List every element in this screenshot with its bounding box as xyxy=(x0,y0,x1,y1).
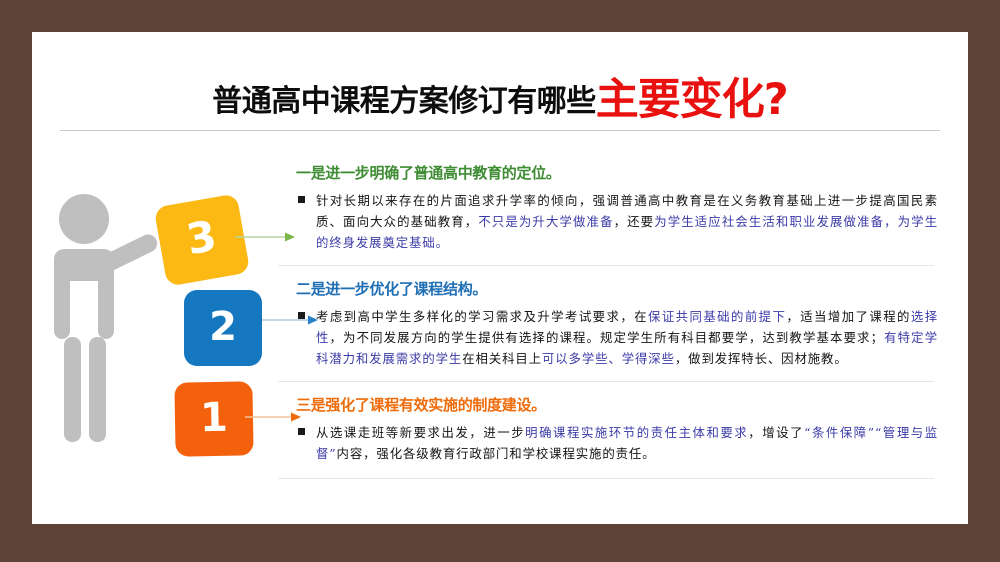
section-1-paragraph: 针对长期以来存在的片面追求升学率的倾向，强调普通高中教育是在义务教育基础上进一步… xyxy=(316,190,938,253)
bullet-square-icon xyxy=(298,428,305,435)
section-1: 一是进一步明确了普通高中教育的定位。 针对长期以来存在的片面追求升学率的倾向，强… xyxy=(254,162,944,253)
section-3: 三是强化了课程有效实施的制度建设。 从选课走班等新要求出发，进一步明确课程实施环… xyxy=(254,394,944,464)
section-2-heading: 二是进一步优化了课程结构。 xyxy=(254,278,944,299)
title-main-text: 普通高中课程方案修订有哪些 xyxy=(212,84,596,119)
section-3-body: 从选课走班等新要求出发，进一步明确课程实施环节的责任主体和要求，增设了“条件保障… xyxy=(254,422,944,464)
section-separator-2 xyxy=(278,381,934,382)
section-separator-3 xyxy=(278,478,934,479)
number-box-2-label: 2 xyxy=(209,307,237,347)
number-box-3-label: 3 xyxy=(184,215,220,261)
title-accent-text: 主要变化? xyxy=(596,75,788,125)
number-box-1-label: 1 xyxy=(200,398,229,438)
bullet-square-icon xyxy=(298,312,305,319)
section-2-body: 考虑到高中学生多样化的学习需求及升学考试要求，在保证共同基础的前提下，适当增加了… xyxy=(254,306,944,369)
section-1-heading: 一是进一步明确了普通高中教育的定位。 xyxy=(254,162,944,183)
section-3-heading: 三是强化了课程有效实施的制度建设。 xyxy=(254,394,944,415)
title-divider xyxy=(60,130,940,131)
number-box-2[interactable]: 2 xyxy=(184,290,262,366)
section-2-paragraph: 考虑到高中学生多样化的学习需求及升学考试要求，在保证共同基础的前提下，适当增加了… xyxy=(316,306,938,369)
sections-container: 一是进一步明确了普通高中教育的定位。 针对长期以来存在的片面追求升学率的倾向，强… xyxy=(254,162,944,479)
page-title: 普通高中课程方案修订有哪些主要变化? xyxy=(32,62,968,124)
person-silhouette-icon xyxy=(42,187,167,452)
slide-page: 普通高中课程方案修订有哪些主要变化? 3 2 1 一是进一步明确了普通高中教育的… xyxy=(32,32,968,524)
section-1-body: 针对长期以来存在的片面追求升学率的倾向，强调普通高中教育是在义务教育基础上进一步… xyxy=(254,190,944,253)
number-box-1[interactable]: 1 xyxy=(174,381,253,456)
section-3-paragraph: 从选课走班等新要求出发，进一步明确课程实施环节的责任主体和要求，增设了“条件保障… xyxy=(316,422,938,464)
section-2: 二是进一步优化了课程结构。 考虑到高中学生多样化的学习需求及升学考试要求，在保证… xyxy=(254,278,944,369)
section-separator-1 xyxy=(278,265,934,266)
bullet-square-icon xyxy=(298,196,305,203)
